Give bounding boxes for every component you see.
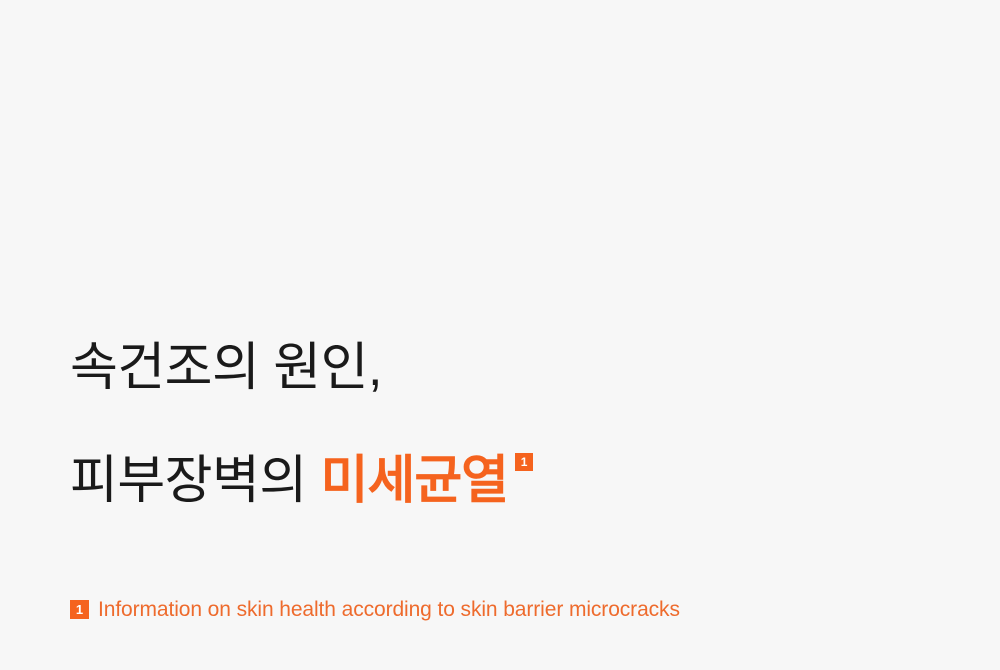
slide-canvas: 속건조의 원인, 피부장벽의 미세균열1 1 Information on sk… (0, 0, 1000, 670)
footnote-reference-badge[interactable]: 1 (515, 453, 533, 471)
page-title: 속건조의 원인, 피부장벽의 미세균열1 (70, 312, 950, 538)
headline-accent-text: 미세균열 (321, 452, 508, 510)
headline-line-2: 피부장벽의 미세균열1 (70, 425, 950, 538)
footnote: 1 Information on skin health according t… (70, 598, 680, 621)
headline-line-1-text: 속건조의 원인, (70, 339, 382, 397)
headline-line-1: 속건조의 원인, (70, 312, 950, 425)
headline-line-2-text: 피부장벽의 (70, 452, 321, 510)
footnote-text: Information on skin health according to … (98, 598, 680, 621)
footnote-marker-badge: 1 (70, 600, 89, 619)
